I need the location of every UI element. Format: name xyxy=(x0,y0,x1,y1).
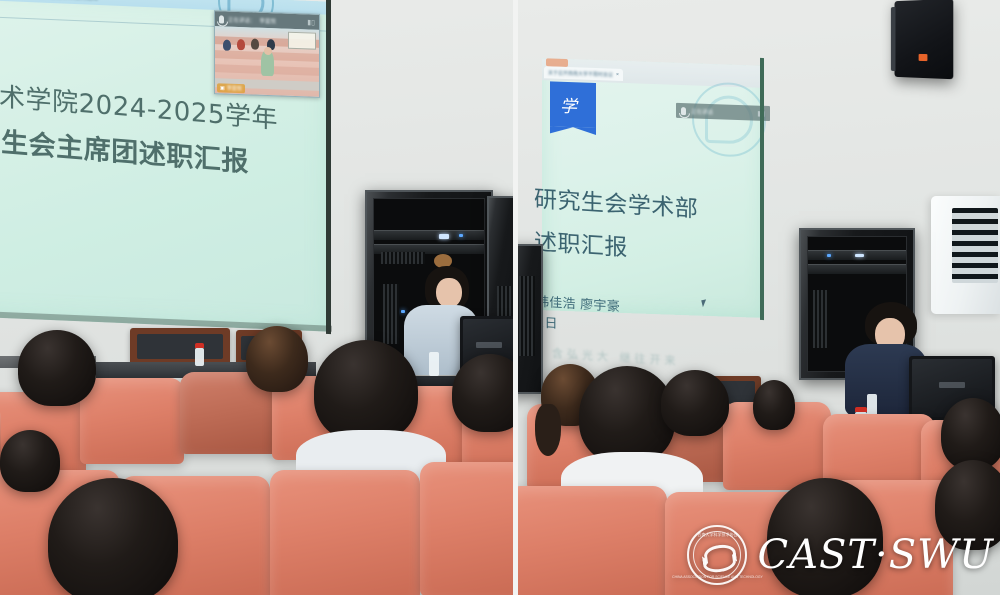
audience-seat xyxy=(270,470,420,595)
seal-swirl-icon xyxy=(702,542,732,568)
screen-frame-edge xyxy=(326,0,331,334)
audience-head xyxy=(661,370,729,436)
audience-head xyxy=(18,330,96,406)
audience-head xyxy=(579,366,675,464)
pip-inner-screen xyxy=(288,32,316,50)
seal-bottom-text: CHINA ASSOCIATION FOR SCIENCE AND TECHNO… xyxy=(672,575,763,579)
audience-seat xyxy=(80,378,184,464)
pip-speaker-name: 李蓝悦 xyxy=(260,16,277,25)
air-conditioner xyxy=(931,196,1000,314)
water-bottle xyxy=(195,348,204,366)
audience-head xyxy=(0,430,60,492)
left-photo-panel: 关于召开西南大学研究生会主席团述职汇报的通知 × 学技术学院2024-2025学… xyxy=(0,0,517,595)
water-bottle xyxy=(429,352,439,376)
seal-top-text: 西南大学科学技术协会 xyxy=(697,532,737,538)
cast-swu-watermark: 西南大学科学技术协会 CHINA ASSOCIATION FOR SCIENCE… xyxy=(687,525,994,585)
slide-title-line1: 研究生会学术部 xyxy=(534,180,698,224)
mouse-cursor-icon xyxy=(701,299,708,307)
watermark-text: CAST·SWU xyxy=(757,535,994,575)
pip-speaking-label: 正在讲话： xyxy=(228,15,256,24)
jbl-speaker-icon xyxy=(895,0,954,79)
mic-icon xyxy=(219,15,224,23)
mic-icon xyxy=(681,106,686,114)
signal-icon: ▮▯ xyxy=(307,18,315,26)
audience-seat xyxy=(420,462,517,595)
cast-seal-icon: 西南大学科学技术协会 CHINA ASSOCIATION FOR SCIENCE… xyxy=(687,525,747,585)
right-photo-panel: 关于召开西南大学不限时会议 × 正在讲话 ▮▯ 学 研究生会学术部 述职汇报 韩… xyxy=(517,0,1000,595)
photo-collage: 关于召开西南大学研究生会主席团述职汇报的通知 × 学技术学院2024-2025学… xyxy=(0,0,1000,595)
audience-head xyxy=(452,354,517,432)
banner-character: 学 xyxy=(560,92,577,118)
audience-seat xyxy=(517,486,667,595)
pip-video-window[interactable]: 正在讲话： 李蓝悦 ▮▯ ▣ 李蓝悦 xyxy=(214,10,320,98)
slide-logo-banner: 学 xyxy=(550,81,596,128)
speaking-label: 正在讲话 xyxy=(691,107,713,116)
audience-head xyxy=(753,380,795,430)
audience-head xyxy=(314,340,418,442)
slide-title-line2: 述职汇报 xyxy=(534,223,628,263)
equipment-rack-secondary xyxy=(517,244,543,394)
audience-head xyxy=(246,326,308,392)
audience-head xyxy=(48,478,178,595)
screen-frame-edge xyxy=(760,58,764,320)
pip-video-feed: ▣ 李蓝悦 xyxy=(215,26,319,97)
jbl-logo-icon xyxy=(919,54,928,61)
collage-divider xyxy=(513,0,518,595)
audience-ponytail xyxy=(535,404,561,456)
front-row-chair xyxy=(130,328,230,366)
pip-nameplate: ▣ 李蓝悦 xyxy=(217,83,245,93)
participant-icon: ▣ xyxy=(220,85,225,91)
right-projection-screen: 关于召开西南大学不限时会议 × 正在讲话 ▮▯ 学 研究生会学术部 述职汇报 韩… xyxy=(542,58,764,318)
tab-close-icon[interactable]: × xyxy=(616,72,619,78)
speaking-status-bar: 正在讲话 ▮▯ xyxy=(676,103,770,121)
